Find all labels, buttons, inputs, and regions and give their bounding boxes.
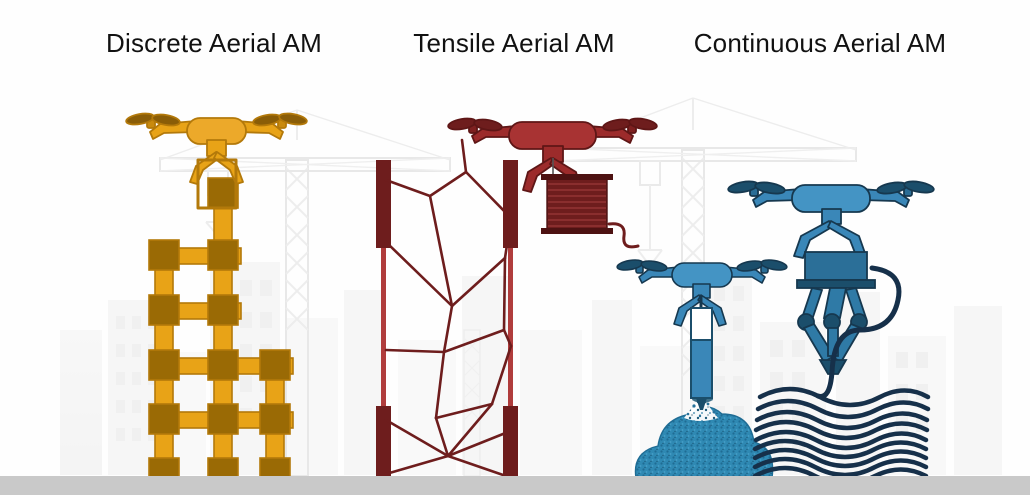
filament-spool — [541, 158, 638, 247]
aerial-am-figure: Discrete Aerial AM Tensile Aerial AM Con… — [0, 0, 1030, 495]
scene-svg — [0, 0, 1030, 495]
blue-quadrotor-drone-delta — [727, 179, 934, 258]
ground-strip — [0, 476, 1030, 495]
extruder-nozzle-syringe — [691, 295, 712, 410]
